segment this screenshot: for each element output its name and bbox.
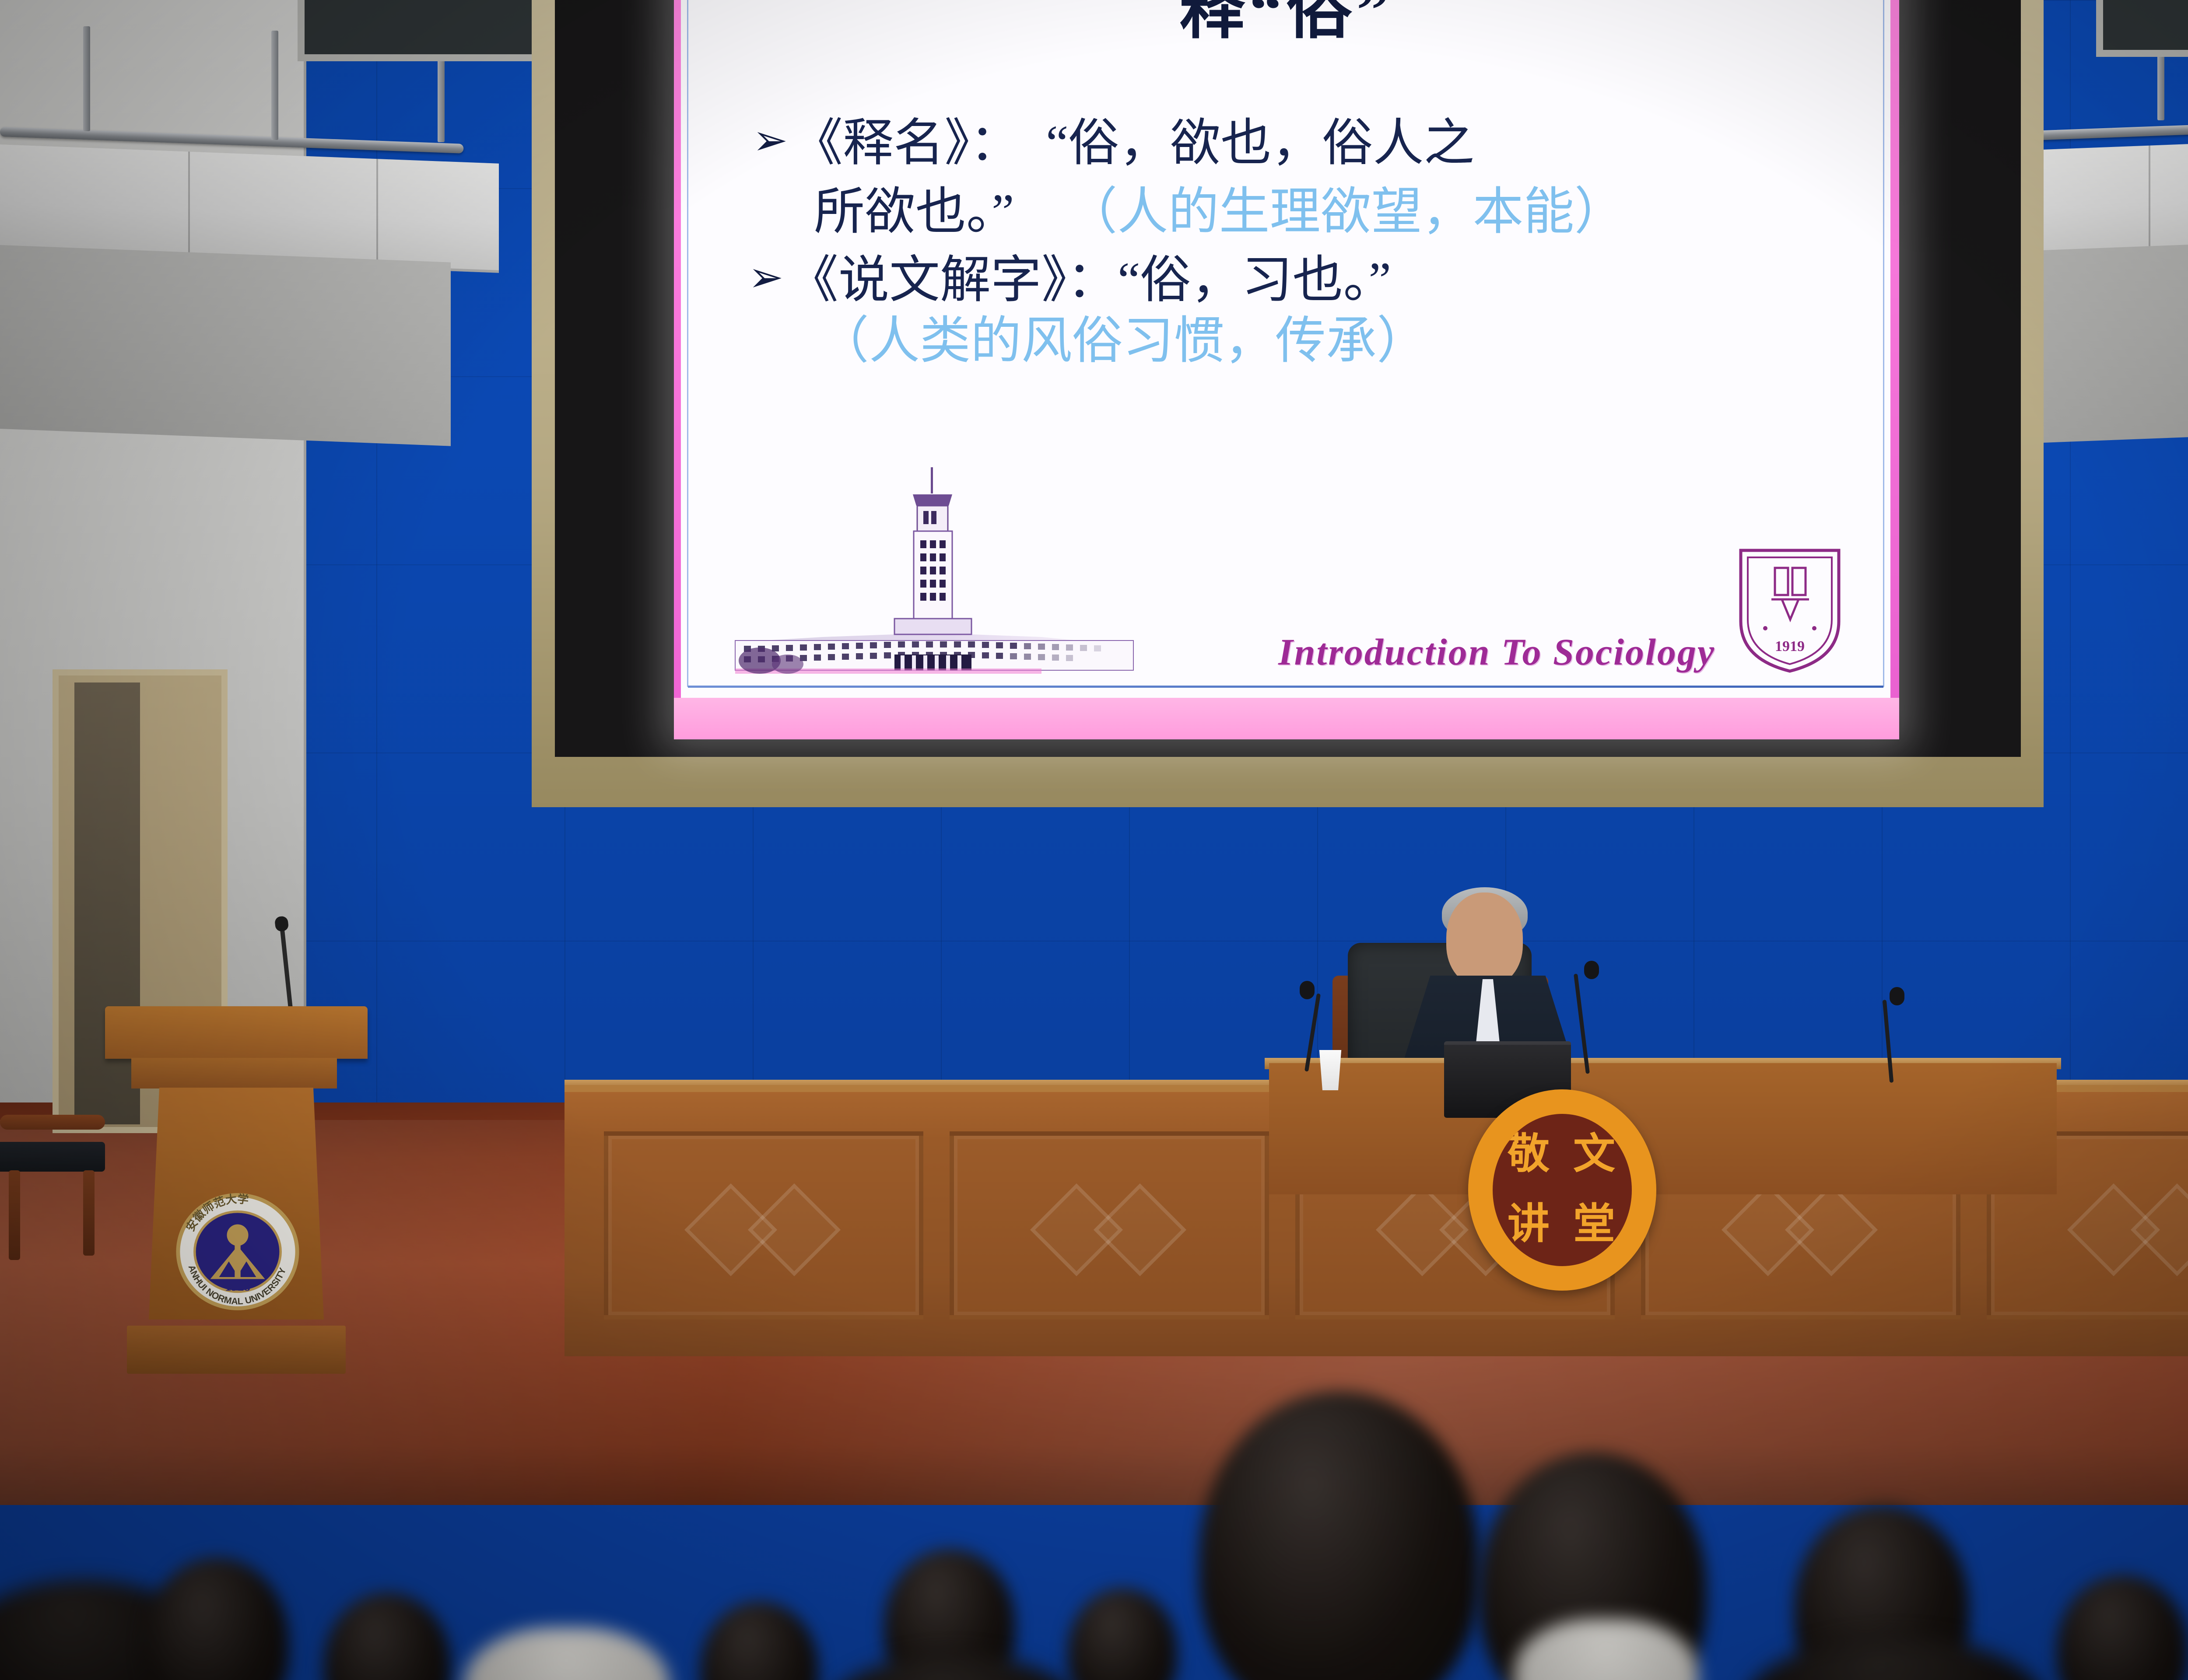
slide-blue-rule [688, 686, 1883, 688]
chair-leg [83, 1170, 95, 1256]
panel-diamond [1094, 1183, 1186, 1276]
right-balcony-underside [2022, 232, 2188, 444]
side-chair[interactable] [0, 1089, 109, 1264]
slide-body: ➢ 《释名》： “俗，欲也，俗人之 所欲也。” （人的生理欲望，本能） ➢ 《说… [674, 109, 1899, 375]
balcony-window [2096, 0, 2188, 57]
slide-bullet-1: ➢ 《释名》： “俗，欲也，俗人之 [674, 109, 1899, 178]
slide-line-4-note: （人类的风俗习惯，传承） [818, 307, 1427, 376]
railing-post [83, 26, 90, 131]
slide-bullet-2-text: 《说文解字》：“俗，习也。” [788, 246, 1391, 315]
slide-line-2-text: 所欲也。” [814, 178, 1014, 247]
medallion-char-3: 讲 [1502, 1193, 1555, 1246]
lectern-neck [131, 1058, 337, 1088]
lectern[interactable]: 1928 安徽师范大学 ANHUI NORMAL UNIVERSITY [101, 1006, 368, 1374]
projected-slide: 释“俗” ➢ 《释名》： “俗，欲也，俗人之 所欲也。” （人的生理欲望，本能）… [674, 0, 1899, 739]
lectern-top [105, 1006, 368, 1059]
medallion-char-4: 堂 [1568, 1193, 1620, 1246]
microphone-head [1584, 961, 1599, 979]
slide-title: 释“俗” [674, 0, 1899, 51]
seal-year: 1919 [1775, 638, 1805, 654]
panel-diamond [1785, 1183, 1878, 1276]
slide-footer-script: Introduction To Sociology [1278, 630, 1715, 674]
chair-seat [0, 1142, 105, 1172]
stage-panel [604, 1131, 923, 1319]
medallion-char-2: 文 [1568, 1123, 1620, 1176]
slide-bottom-pink-band [674, 698, 1899, 739]
speaker-desk [1269, 1063, 2057, 1194]
microphone-head [1890, 987, 1904, 1005]
anhui-normal-university-emblem: 1928 安徽师范大学 ANHUI NORMAL UNIVERSITY [174, 1188, 301, 1315]
bullet-arrow-icon: ➢ [748, 249, 788, 306]
slide-bullet-1-text: 《释名》： “俗，欲也，俗人之 [792, 109, 1475, 178]
panel-diamond [2131, 1183, 2188, 1276]
railing-post [271, 31, 278, 140]
speaker-head [1446, 892, 1523, 987]
emblem-year: 1928 [225, 1280, 250, 1294]
medallion-field: 敬 文 讲 堂 [1493, 1114, 1632, 1266]
bullet-arrow-icon: ➢ [753, 112, 792, 169]
slide-line-2-note: （人的生理欲望，本能） [1067, 178, 1625, 247]
chair-armrest [0, 1115, 105, 1130]
lectern-body: 1928 安徽师范大学 ANHUI NORMAL UNIVERSITY [149, 1088, 324, 1319]
panel-diamond [748, 1183, 841, 1276]
left-balcony-underside [0, 245, 451, 446]
stage-panel [950, 1131, 1269, 1319]
slide-bullet-2: ➢ 《说文解字》：“俗，习也。” [674, 246, 1899, 315]
slide-line-4: （人类的风俗习惯，传承） [674, 307, 1899, 376]
building-illustration [718, 464, 1147, 674]
microphone-head [1300, 981, 1315, 999]
slide-line-2: 所欲也。” （人的生理欲望，本能） [674, 178, 1899, 247]
medallion-char-1: 敬 [1502, 1123, 1555, 1176]
lectern-base [127, 1326, 346, 1374]
chair-leg [9, 1170, 20, 1260]
nankai-seal: 1919 [1733, 542, 1847, 674]
lecture-hall-medallion: 敬 文 讲 堂 [1468, 1089, 1656, 1291]
auditorium-scene: 释“俗” ➢ 《释名》： “俗，欲也，俗人之 所欲也。” （人的生理欲望，本能）… [0, 0, 2188, 1680]
